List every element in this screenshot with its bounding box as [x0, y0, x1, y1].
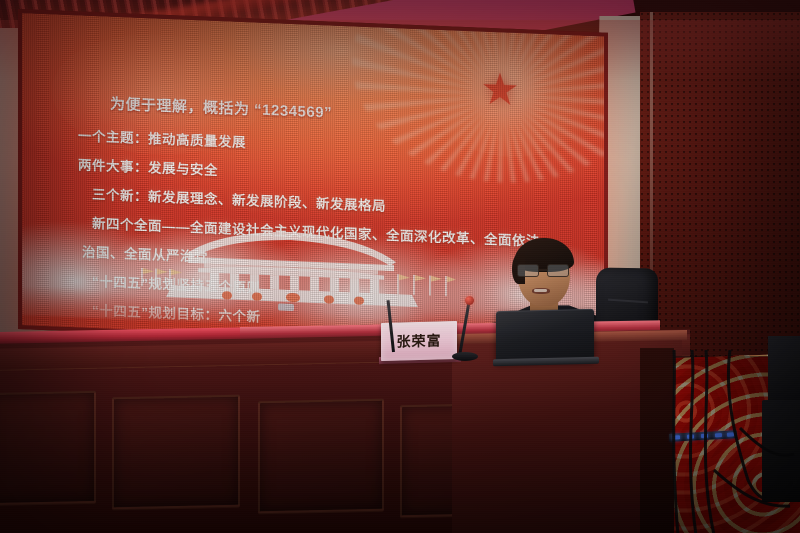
microphone-base [452, 352, 478, 361]
tiananmen-gate-icon [126, 221, 456, 326]
podium-panel-1 [0, 391, 96, 505]
conference-hall-photo: ★ 为便于理解，概括为 “1234569” 一个主题：推动高质量发展 两件大事：… [0, 0, 800, 533]
red-star-icon: ★ [478, 67, 522, 113]
glasses-right-lens [547, 264, 569, 277]
glasses-left-lens [517, 264, 539, 277]
podium-panel-2 [112, 395, 240, 510]
laptop[interactable] [496, 309, 594, 363]
cables [640, 350, 800, 533]
perforated-acoustic-panel [640, 12, 800, 372]
glasses-icon [516, 264, 572, 277]
glasses-bridge [539, 269, 547, 271]
podium-panel-3 [258, 399, 384, 514]
microphone-head-icon [465, 296, 474, 305]
nameplate-text: 张荣富 [397, 330, 442, 351]
speaker-teeth [534, 289, 547, 292]
